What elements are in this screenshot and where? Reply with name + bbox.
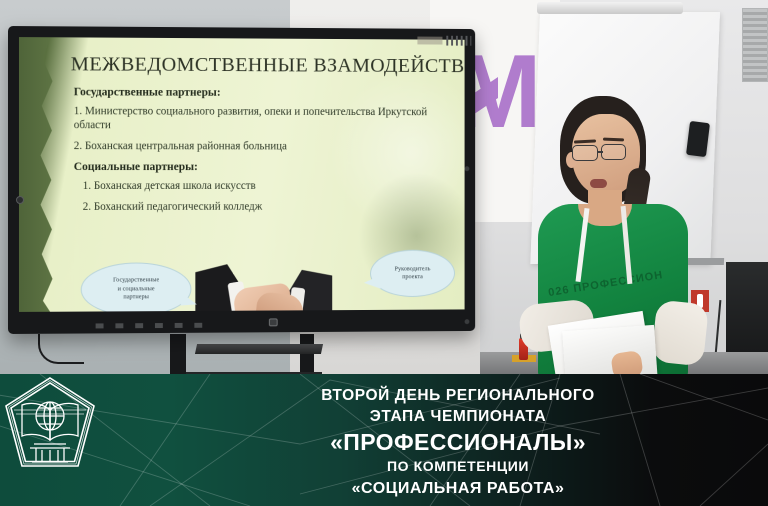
- tv-power-cable: [38, 334, 84, 364]
- display-bottom-bezel: [8, 309, 475, 334]
- banner-line-5: «СОЦИАЛЬНАЯ РАБОТА»: [258, 477, 658, 501]
- slide-section-1-item-1: 1. Министерство социального развития, оп…: [74, 104, 451, 133]
- banner-line-2: ЭТАПА ЧЕМПИОНАТА: [258, 406, 658, 427]
- presenter-arm-left: [651, 299, 709, 366]
- interactive-display-panel[interactable]: МЕЖВЕДОМСТВЕННЫЕ ВЗАМОДЕЙСТВИЯ Государст…: [8, 26, 475, 334]
- display-screen[interactable]: МЕЖВЕДОМСТВЕННЫЕ ВЗАМОДЕЙСТВИЯ Государст…: [19, 37, 465, 312]
- glasses-lens-left: [572, 145, 598, 161]
- slide-section-1-item-2: 2. Боханская центральная районная больни…: [74, 139, 451, 153]
- display-control-buttons[interactable]: [96, 323, 214, 329]
- display-side-button[interactable]: [16, 196, 24, 204]
- slide-left-wave-decoration: [19, 37, 79, 312]
- slide-section-heading-1: Государственные партнеры:: [74, 85, 451, 99]
- glasses-bridge: [597, 151, 603, 153]
- presenter: 026 ПРОФЕССИОН СКАЯ: [520, 96, 705, 378]
- screenshot-root: M 026 ПРОФЕССИО: [0, 0, 768, 506]
- wall-vent-grille: [742, 8, 768, 82]
- speech-bubble-partners-line-1: Государственные: [113, 277, 159, 286]
- display-edge-dot-top: [465, 166, 470, 171]
- banner-line-3: «ПРОФЕССИОНАЛЫ»: [258, 428, 658, 456]
- handshake-illustration: [195, 264, 332, 312]
- glasses-lens-right: [601, 144, 626, 160]
- display-edge-dot-bottom: [465, 319, 470, 324]
- slide-body: Государственные партнеры: 1. Министерств…: [74, 85, 451, 221]
- banner-line-1: ВТОРОЙ ДЕНЬ РЕГИОНАЛЬНОГО: [258, 386, 658, 406]
- speech-bubble-partners: Государственные и социальные партнеры: [81, 262, 192, 312]
- tv-stand-column-left: [170, 334, 186, 376]
- slide-section-2-item-1: 1. Боханская детская школа искусств: [83, 179, 451, 193]
- speech-bubble-partners-line-3: партнеры: [113, 293, 159, 302]
- event-photo: M 026 ПРОФЕССИО: [0, 0, 768, 378]
- speech-bubble-manager-line-1: Руководитель: [395, 265, 431, 273]
- banner-caption: ВТОРОЙ ДЕНЬ РЕГИОНАЛЬНОГО ЭТАПА ЧЕМПИОНА…: [258, 386, 658, 501]
- display-brand-label: [417, 37, 442, 45]
- presenter-papers-front: [562, 325, 658, 378]
- presenter-mouth: [590, 179, 607, 188]
- speech-bubble-manager-line-2: проекта: [395, 273, 431, 281]
- slide-title: МЕЖВЕДОМСТВЕННЫЕ ВЗАМОДЕЙСТВИЯ: [71, 53, 457, 78]
- display-power-led: [269, 318, 278, 326]
- college-emblem-icon: [0, 374, 100, 474]
- tv-stand-column-right: [300, 334, 314, 376]
- speech-bubble-partners-line-2: и социальные: [113, 285, 159, 294]
- slide-section-2-item-2: 2. Боханский педагогический колледж: [83, 200, 451, 214]
- display-keypad[interactable]: [446, 36, 471, 46]
- banner-line-4: ПО КОМПЕТЕНЦИИ: [258, 456, 658, 477]
- speech-bubble-project-manager: Руководитель проекта: [370, 250, 455, 298]
- presentation-slide: МЕЖВЕДОМСТВЕННЫЕ ВЗАМОДЕЙСТВИЯ Государст…: [19, 37, 465, 312]
- slide-section-heading-2: Социальные партнеры:: [74, 160, 451, 173]
- projection-screen-roller: [537, 2, 683, 14]
- tv-stand-shelf: [195, 344, 323, 354]
- event-caption-banner: ВТОРОЙ ДЕНЬ РЕГИОНАЛЬНОГО ЭТАПА ЧЕМПИОНА…: [0, 374, 768, 506]
